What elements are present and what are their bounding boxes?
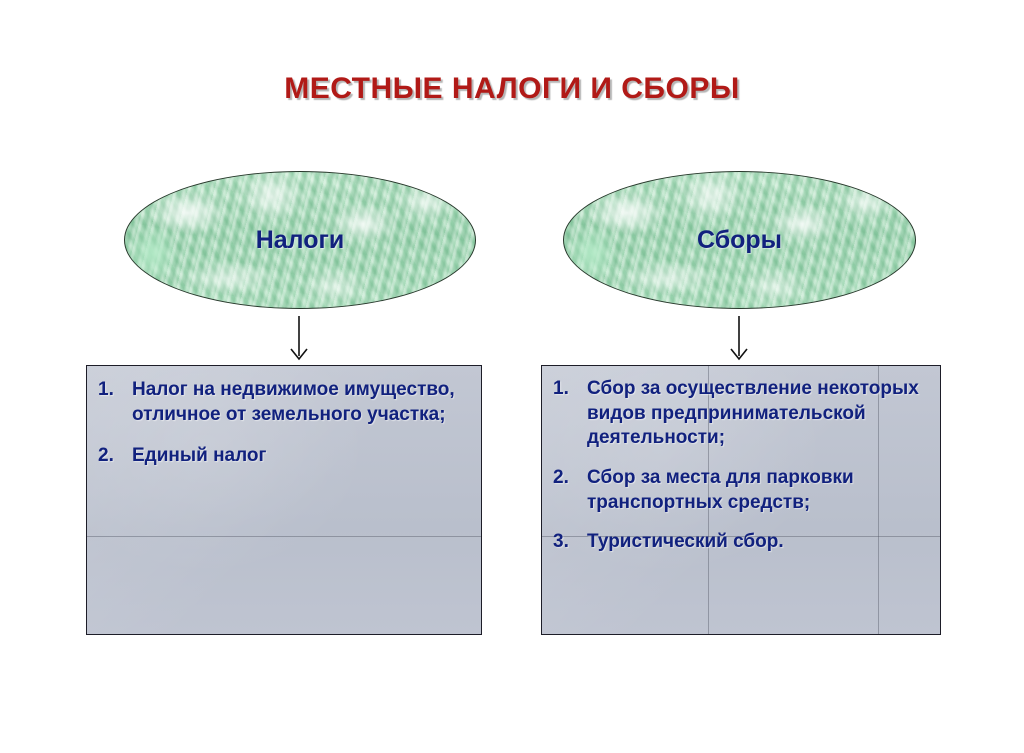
list-item: 2. Единый налог xyxy=(98,444,471,469)
arrow-down-icon-taxes xyxy=(283,316,315,367)
list-item: 3. Туристический сбор. xyxy=(553,530,930,555)
list-item-text: Налог на недвижимое имущество, отличное … xyxy=(132,378,471,427)
slide-canvas: МЕСТНЫЕ НАЛОГИ И СБОРЫ Налоги Сборы 1. Н… xyxy=(0,0,1024,753)
page-title: МЕСТНЫЕ НАЛОГИ И СБОРЫ xyxy=(0,72,1024,106)
table-taxes: 1. Налог на недвижимое имущество, отличн… xyxy=(86,365,482,635)
node-fees-ellipse[interactable]: Сборы xyxy=(563,171,916,309)
list-item-text: Туристический сбор. xyxy=(587,530,930,555)
list-item-text: Сбор за места для парковки транспортных … xyxy=(587,466,930,515)
list-item-number: 1. xyxy=(553,377,587,402)
node-fees-label: Сборы xyxy=(697,226,782,255)
list-item-number: 2. xyxy=(98,444,132,469)
table-fees-list: 1. Сбор за осуществление некоторых видов… xyxy=(542,366,940,570)
list-item-text: Единый налог xyxy=(132,444,471,469)
arrow-down-icon-fees xyxy=(723,316,755,367)
list-item: 1. Сбор за осуществление некоторых видов… xyxy=(553,377,930,451)
list-item: 2. Сбор за места для парковки транспортн… xyxy=(553,466,930,515)
table-fees: 1. Сбор за осуществление некоторых видов… xyxy=(541,365,941,635)
list-item-number: 3. xyxy=(553,530,587,555)
list-item-text: Сбор за осуществление некоторых видов пр… xyxy=(587,377,930,451)
node-taxes-ellipse[interactable]: Налоги xyxy=(124,171,476,309)
table-taxes-list: 1. Налог на недвижимое имущество, отличн… xyxy=(87,366,481,486)
table-taxes-row-divider xyxy=(87,536,481,537)
node-taxes-label: Налоги xyxy=(256,226,345,255)
list-item-number: 1. xyxy=(98,378,132,403)
list-item: 1. Налог на недвижимое имущество, отличн… xyxy=(98,378,471,427)
list-item-number: 2. xyxy=(553,466,587,491)
